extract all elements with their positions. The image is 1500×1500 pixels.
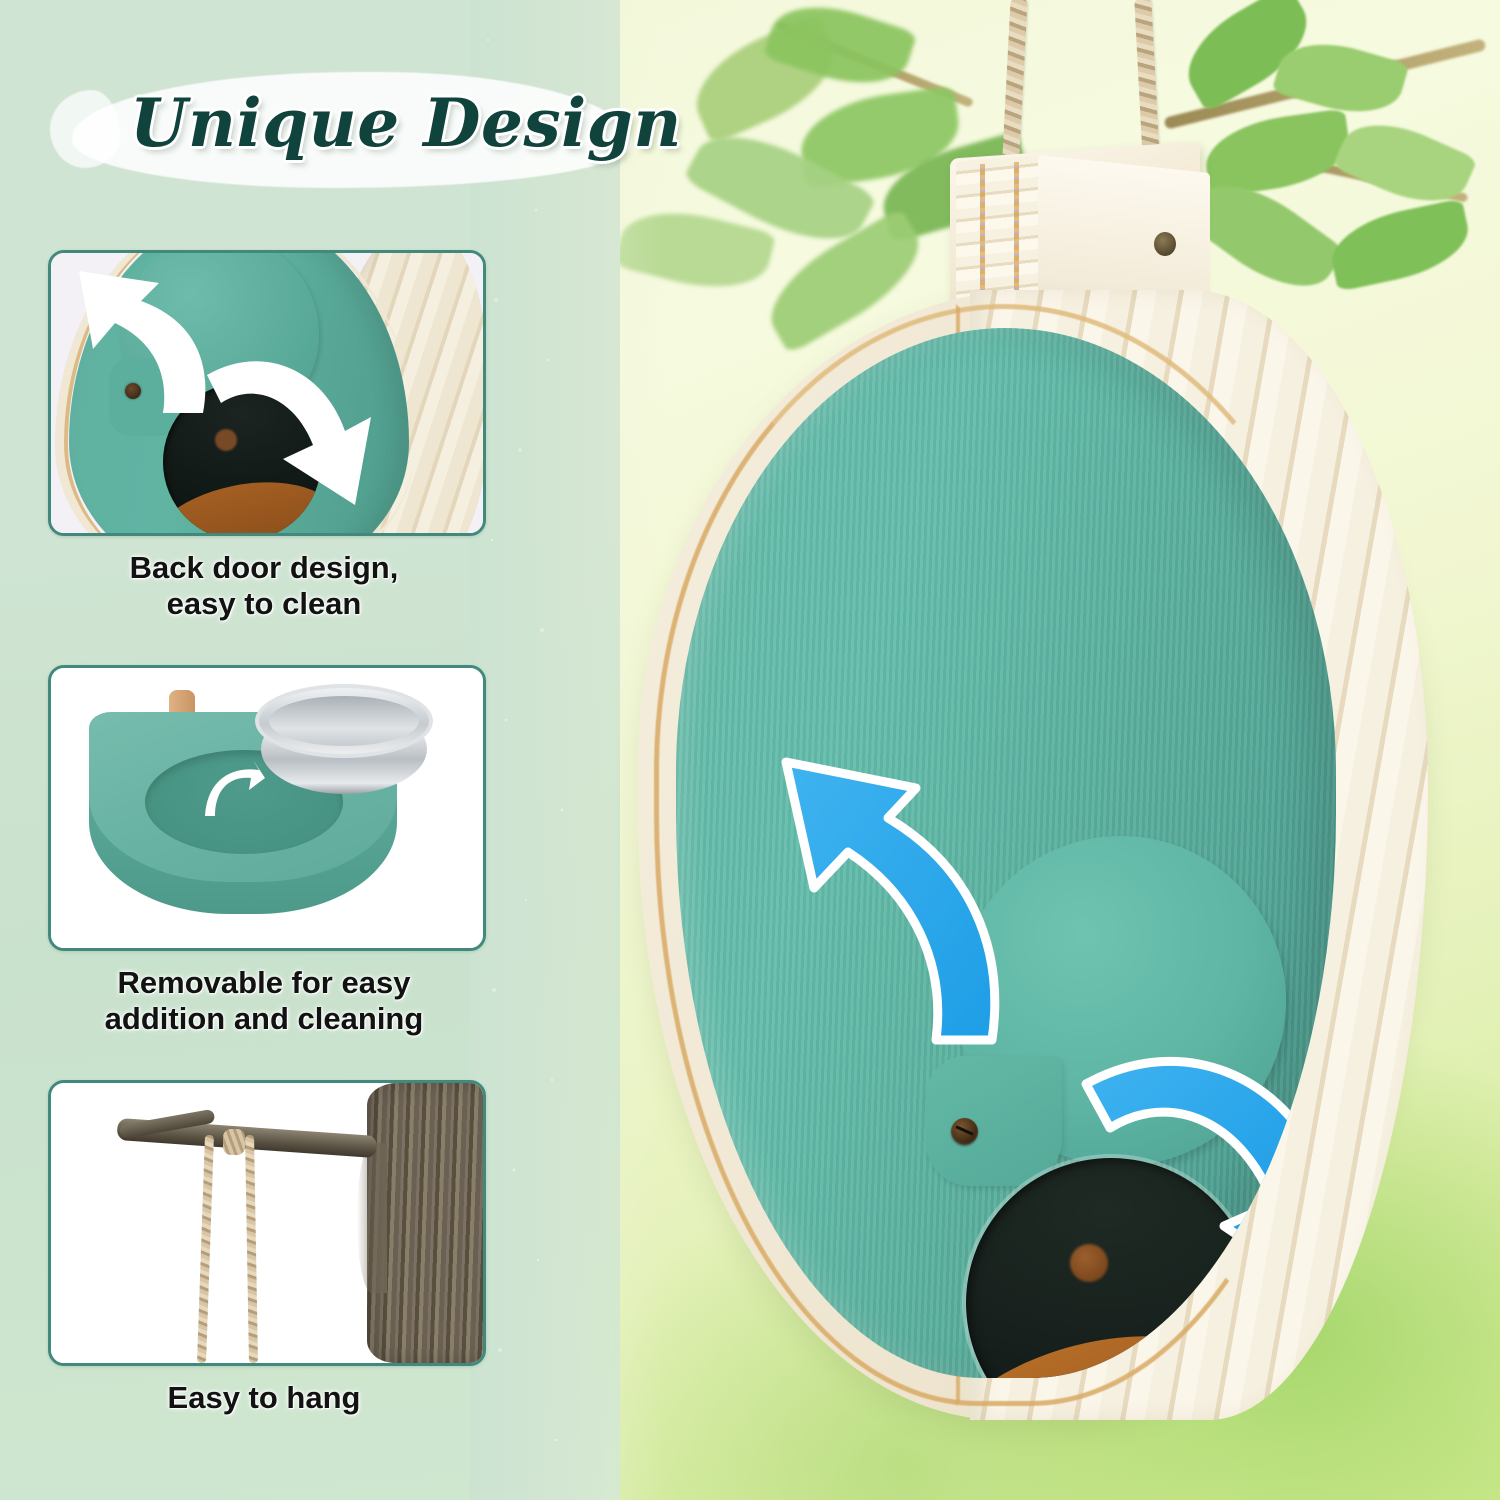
caption-line-2: addition and cleaning: [48, 1001, 480, 1037]
interior-floor: [966, 1302, 1256, 1378]
torn-edge-speckles: [476, 0, 626, 1500]
feature-thumbnail[interactable]: [48, 1080, 486, 1366]
teal-front-panel: [676, 328, 1336, 1378]
caption-line-1: Back door design,: [48, 550, 480, 586]
feature-card-removable-tray: Removable for easy addition and cleaning: [48, 665, 480, 1038]
interior-peg: [215, 429, 237, 451]
feature-caption: Back door design, easy to clean: [48, 550, 480, 623]
interior-peg: [1070, 1244, 1108, 1282]
product-infographic: Unique Design: [0, 0, 1500, 1500]
rope-hole: [1154, 232, 1176, 256]
page-title: Unique Design: [130, 84, 690, 162]
entrance-hole: [966, 1158, 1256, 1378]
feature-caption: Removable for easy addition and cleaning: [48, 965, 480, 1038]
disc-pivot-tab: [926, 1056, 1062, 1186]
tree-trunk: [367, 1083, 483, 1363]
caption-line-1: Removable for easy: [48, 965, 480, 1001]
caption-line-1: Easy to hang: [48, 1380, 480, 1416]
rope-knot: [223, 1129, 245, 1155]
cap-gold-edge: [1014, 162, 1019, 304]
arrow-rotate-disc-icon: [201, 341, 371, 511]
main-product-photo: [620, 140, 1460, 1430]
feature-thumbnail[interactable]: [48, 665, 486, 951]
removable-steel-dish: [255, 684, 433, 800]
cap-gold-edge: [980, 164, 985, 306]
feature-card-easy-hang: Easy to hang: [48, 1080, 480, 1416]
caption-line-2: easy to clean: [48, 586, 480, 622]
feature-card-back-door: Back door design, easy to clean: [48, 250, 480, 623]
feature-thumbnail[interactable]: [48, 250, 486, 536]
pivot-screw: [951, 1118, 978, 1145]
feature-caption: Easy to hang: [48, 1380, 480, 1416]
